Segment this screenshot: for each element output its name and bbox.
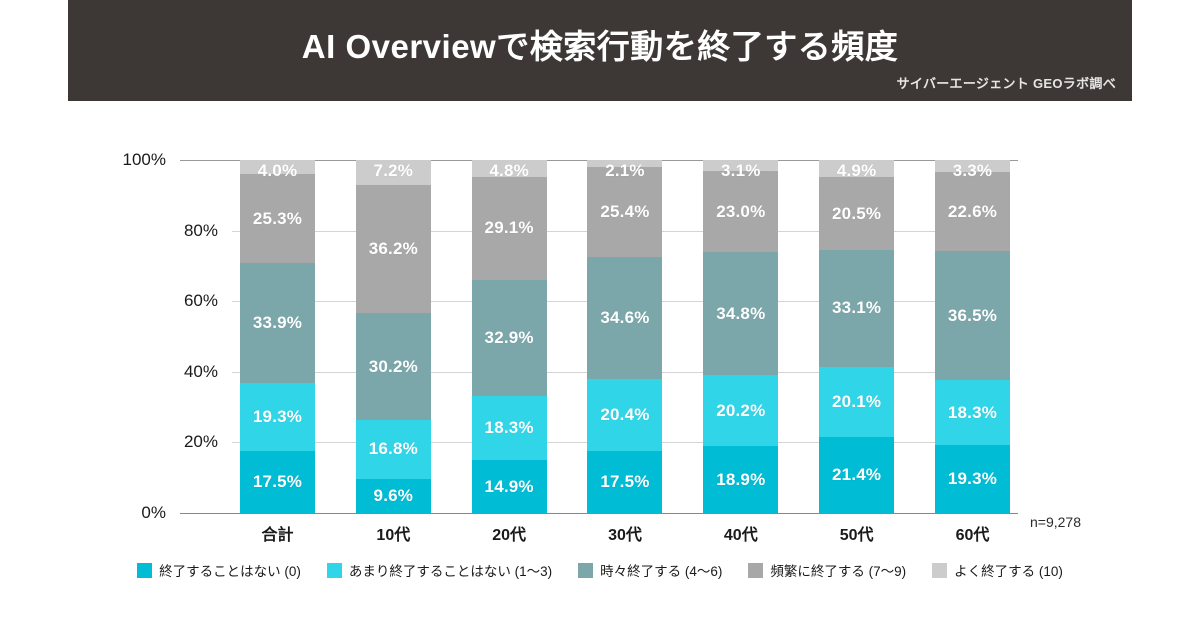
bar-segment[interactable]: 30.2% <box>356 313 431 420</box>
bar-segment[interactable]: 17.5% <box>587 451 662 513</box>
bar-segment[interactable]: 19.3% <box>935 445 1010 513</box>
header-subtitle: サイバーエージェント GEOラボ調べ <box>897 73 1116 92</box>
legend-swatch-icon <box>748 563 763 578</box>
bar-segment-label: 4.8% <box>489 161 529 181</box>
legend-item[interactable]: 終了することはない (0) <box>137 560 301 580</box>
bar-segment-label: 4.0% <box>258 161 298 181</box>
bar-segment-label: 7.2% <box>374 161 414 181</box>
legend-label: よく終了する (10) <box>954 560 1063 580</box>
legend-swatch-icon <box>578 563 593 578</box>
bar-segment[interactable]: 34.8% <box>703 252 778 375</box>
x-axis-tick-label: 10代 <box>376 521 410 545</box>
bar-segment-label: 14.9% <box>485 477 534 497</box>
x-axis-tick-label: 40代 <box>724 521 758 545</box>
bar-segment-label: 16.8% <box>369 439 418 459</box>
bar-segment[interactable]: 4.0% <box>240 160 315 174</box>
bar-group: 4.0%25.3%33.9%19.3%17.5%合計7.2%36.2%30.2%… <box>240 160 1010 513</box>
bar-segment[interactable]: 29.1% <box>472 177 547 280</box>
bar-segment-label: 20.1% <box>832 392 881 412</box>
y-axis-tick-label: 40% <box>184 362 218 382</box>
legend-label: 終了することはない (0) <box>159 560 301 580</box>
gridline-0pct: 0% <box>180 513 1018 514</box>
plot-area: 0%20%40%60%80%100% 4.0%25.3%33.9%19.3%17… <box>240 160 1010 513</box>
bar-segment[interactable]: 23.0% <box>703 171 778 252</box>
bar-segment-label: 33.1% <box>832 298 881 318</box>
bar-segment[interactable]: 7.2% <box>356 160 431 185</box>
bar-segment[interactable]: 9.6% <box>356 479 431 513</box>
bar-segment-label: 18.3% <box>485 418 534 438</box>
bar-segment-label: 19.3% <box>948 469 997 489</box>
bar-segment-label: 34.6% <box>600 308 649 328</box>
bar-segment[interactable]: 19.3% <box>240 383 315 451</box>
bar-segment[interactable]: 20.1% <box>819 367 894 438</box>
bar-segment-label: 17.5% <box>253 472 302 492</box>
bar-segment-label: 20.2% <box>716 401 765 421</box>
bar-segment[interactable]: 18.9% <box>703 446 778 513</box>
legend-label: あまり終了することはない (1〜3) <box>349 560 552 580</box>
bar-column[interactable]: 3.3%22.6%36.5%18.3%19.3%60代 <box>935 160 1010 513</box>
bar-segment-label: 17.5% <box>600 472 649 492</box>
x-axis-tick-label: 50代 <box>840 521 874 545</box>
bar-segment[interactable]: 20.4% <box>587 379 662 451</box>
bar-segment[interactable]: 32.9% <box>472 280 547 396</box>
y-axis-tick-label: 60% <box>184 291 218 311</box>
bar-column[interactable]: 7.2%36.2%30.2%16.8%9.6%10代 <box>356 160 431 513</box>
legend-label: 時々終了する (4〜6) <box>600 560 722 580</box>
legend-swatch-icon <box>137 563 152 578</box>
bar-segment[interactable]: 4.9% <box>819 160 894 177</box>
bar-column[interactable]: 3.1%23.0%34.8%20.2%18.9%40代 <box>703 160 778 513</box>
bar-segment[interactable]: 2.1% <box>587 160 662 167</box>
bar-segment[interactable]: 14.9% <box>472 460 547 513</box>
bar-segment-label: 36.5% <box>948 306 997 326</box>
bar-segment-label: 21.4% <box>832 465 881 485</box>
bar-segment-label: 22.6% <box>948 202 997 222</box>
bar-segment[interactable]: 33.1% <box>819 250 894 367</box>
bar-segment-label: 32.9% <box>485 328 534 348</box>
bar-segment-label: 4.9% <box>837 161 877 181</box>
legend-item[interactable]: あまり終了することはない (1〜3) <box>327 560 552 580</box>
bar-segment[interactable]: 21.4% <box>819 437 894 513</box>
bar-segment-label: 19.3% <box>253 407 302 427</box>
bar-segment-label: 3.3% <box>953 161 993 181</box>
bar-segment[interactable]: 18.3% <box>935 380 1010 445</box>
bar-segment[interactable]: 36.5% <box>935 251 1010 380</box>
bar-segment[interactable]: 18.3% <box>472 396 547 461</box>
bar-segment[interactable]: 4.8% <box>472 160 547 177</box>
bar-segment-label: 9.6% <box>374 486 414 506</box>
bar-segment[interactable]: 3.1% <box>703 160 778 171</box>
legend-label: 頻繁に終了する (7〜9) <box>770 560 906 580</box>
bar-segment[interactable]: 36.2% <box>356 185 431 313</box>
y-axis-tick-label: 20% <box>184 432 218 452</box>
bar-segment-label: 25.4% <box>600 202 649 222</box>
bar-column[interactable]: 4.9%20.5%33.1%20.1%21.4%50代 <box>819 160 894 513</box>
chart-legend: 終了することはない (0)あまり終了することはない (1〜3)時々終了する (4… <box>0 560 1200 580</box>
bar-segment[interactable]: 20.2% <box>703 375 778 446</box>
bar-segment[interactable]: 25.3% <box>240 174 315 263</box>
bar-segment-label: 34.8% <box>716 304 765 324</box>
bar-segment-label: 29.1% <box>485 218 534 238</box>
legend-item[interactable]: 頻繁に終了する (7〜9) <box>748 560 906 580</box>
x-axis-tick-label: 合計 <box>261 521 293 545</box>
legend-item[interactable]: 時々終了する (4〜6) <box>578 560 722 580</box>
x-axis-tick-label: 30代 <box>608 521 642 545</box>
page-title: AI Overviewで検索行動を終了する頻度 <box>68 20 1132 68</box>
bar-segment-label: 23.0% <box>716 202 765 222</box>
x-axis-tick-label: 60代 <box>956 521 990 545</box>
bar-segment[interactable]: 33.9% <box>240 263 315 383</box>
bar-column[interactable]: 4.8%29.1%32.9%18.3%14.9%20代 <box>472 160 547 513</box>
bar-segment[interactable]: 16.8% <box>356 420 431 479</box>
bar-segment-label: 30.2% <box>369 357 418 377</box>
legend-item[interactable]: よく終了する (10) <box>932 560 1063 580</box>
bar-segment-label: 2.1% <box>605 161 645 181</box>
y-axis-tick-label: 80% <box>184 221 218 241</box>
bar-column[interactable]: 4.0%25.3%33.9%19.3%17.5%合計 <box>240 160 315 513</box>
sample-size-note: n=9,278 <box>1030 514 1081 530</box>
bar-segment-label: 20.5% <box>832 204 881 224</box>
bar-segment-label: 20.4% <box>600 405 649 425</box>
bar-segment-label: 18.3% <box>948 403 997 423</box>
bar-segment[interactable]: 22.6% <box>935 172 1010 252</box>
x-axis-tick-label: 20代 <box>492 521 526 545</box>
y-axis-tick-label: 100% <box>123 150 166 170</box>
bar-segment[interactable]: 3.3% <box>935 160 1010 172</box>
bar-segment[interactable]: 20.5% <box>819 177 894 249</box>
bar-segment-label: 36.2% <box>369 239 418 259</box>
bar-segment[interactable]: 17.5% <box>240 451 315 513</box>
legend-swatch-icon <box>327 563 342 578</box>
y-axis-tick-label: 0% <box>141 503 166 523</box>
legend-swatch-icon <box>932 563 947 578</box>
bar-segment-label: 18.9% <box>716 470 765 490</box>
bar-segment-label: 33.9% <box>253 313 302 333</box>
bar-segment-label: 25.3% <box>253 209 302 229</box>
bar-column[interactable]: 2.1%25.4%34.6%20.4%17.5%30代 <box>587 160 662 513</box>
chart-container: 0%20%40%60%80%100% 4.0%25.3%33.9%19.3%17… <box>0 101 1200 630</box>
bar-segment[interactable]: 34.6% <box>587 257 662 379</box>
header-band: AI Overviewで検索行動を終了する頻度 サイバーエージェント GEOラボ… <box>68 0 1132 101</box>
bar-segment-label: 3.1% <box>721 161 761 181</box>
